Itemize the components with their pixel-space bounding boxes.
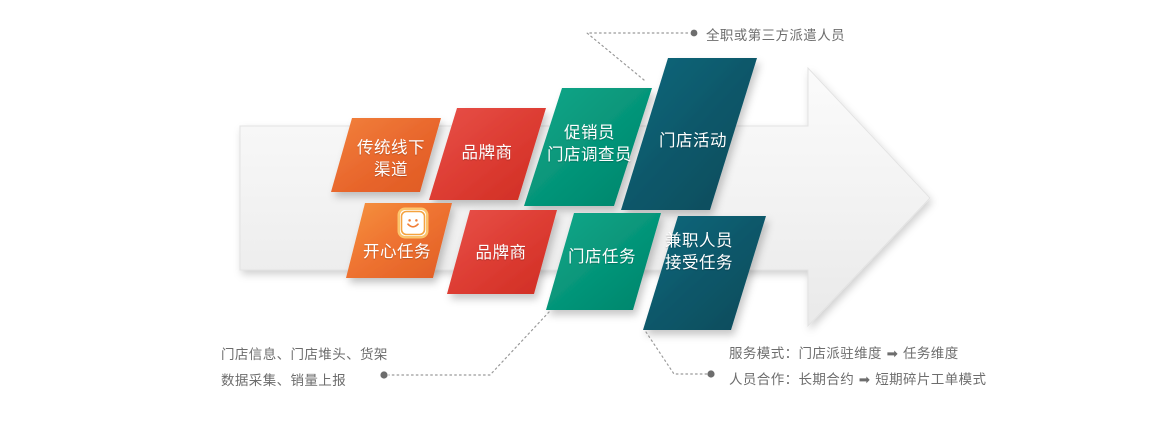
smiley-face-icon — [400, 210, 426, 236]
diagram-canvas: 传统线下 渠道 品牌商 促销员 门店调查员 门店活动 开心任务 品牌商 门店任务… — [0, 0, 1150, 430]
annotation-staffing: 全职或第三方派遣人员 — [706, 23, 845, 49]
smiley-logo-icon — [400, 210, 426, 236]
leader-line-data-collection — [380, 312, 549, 379]
annotation-service-mode: 服务模式：门店派驻维度 ➡ 任务维度 人员合作：长期合约 ➡ 短期碎片工单模式 — [729, 341, 986, 394]
leader-line-service-mode — [646, 332, 715, 378]
annotation-data-collection: 门店信息、门店堆头、货架 数据采集、销量上报 — [221, 342, 388, 395]
